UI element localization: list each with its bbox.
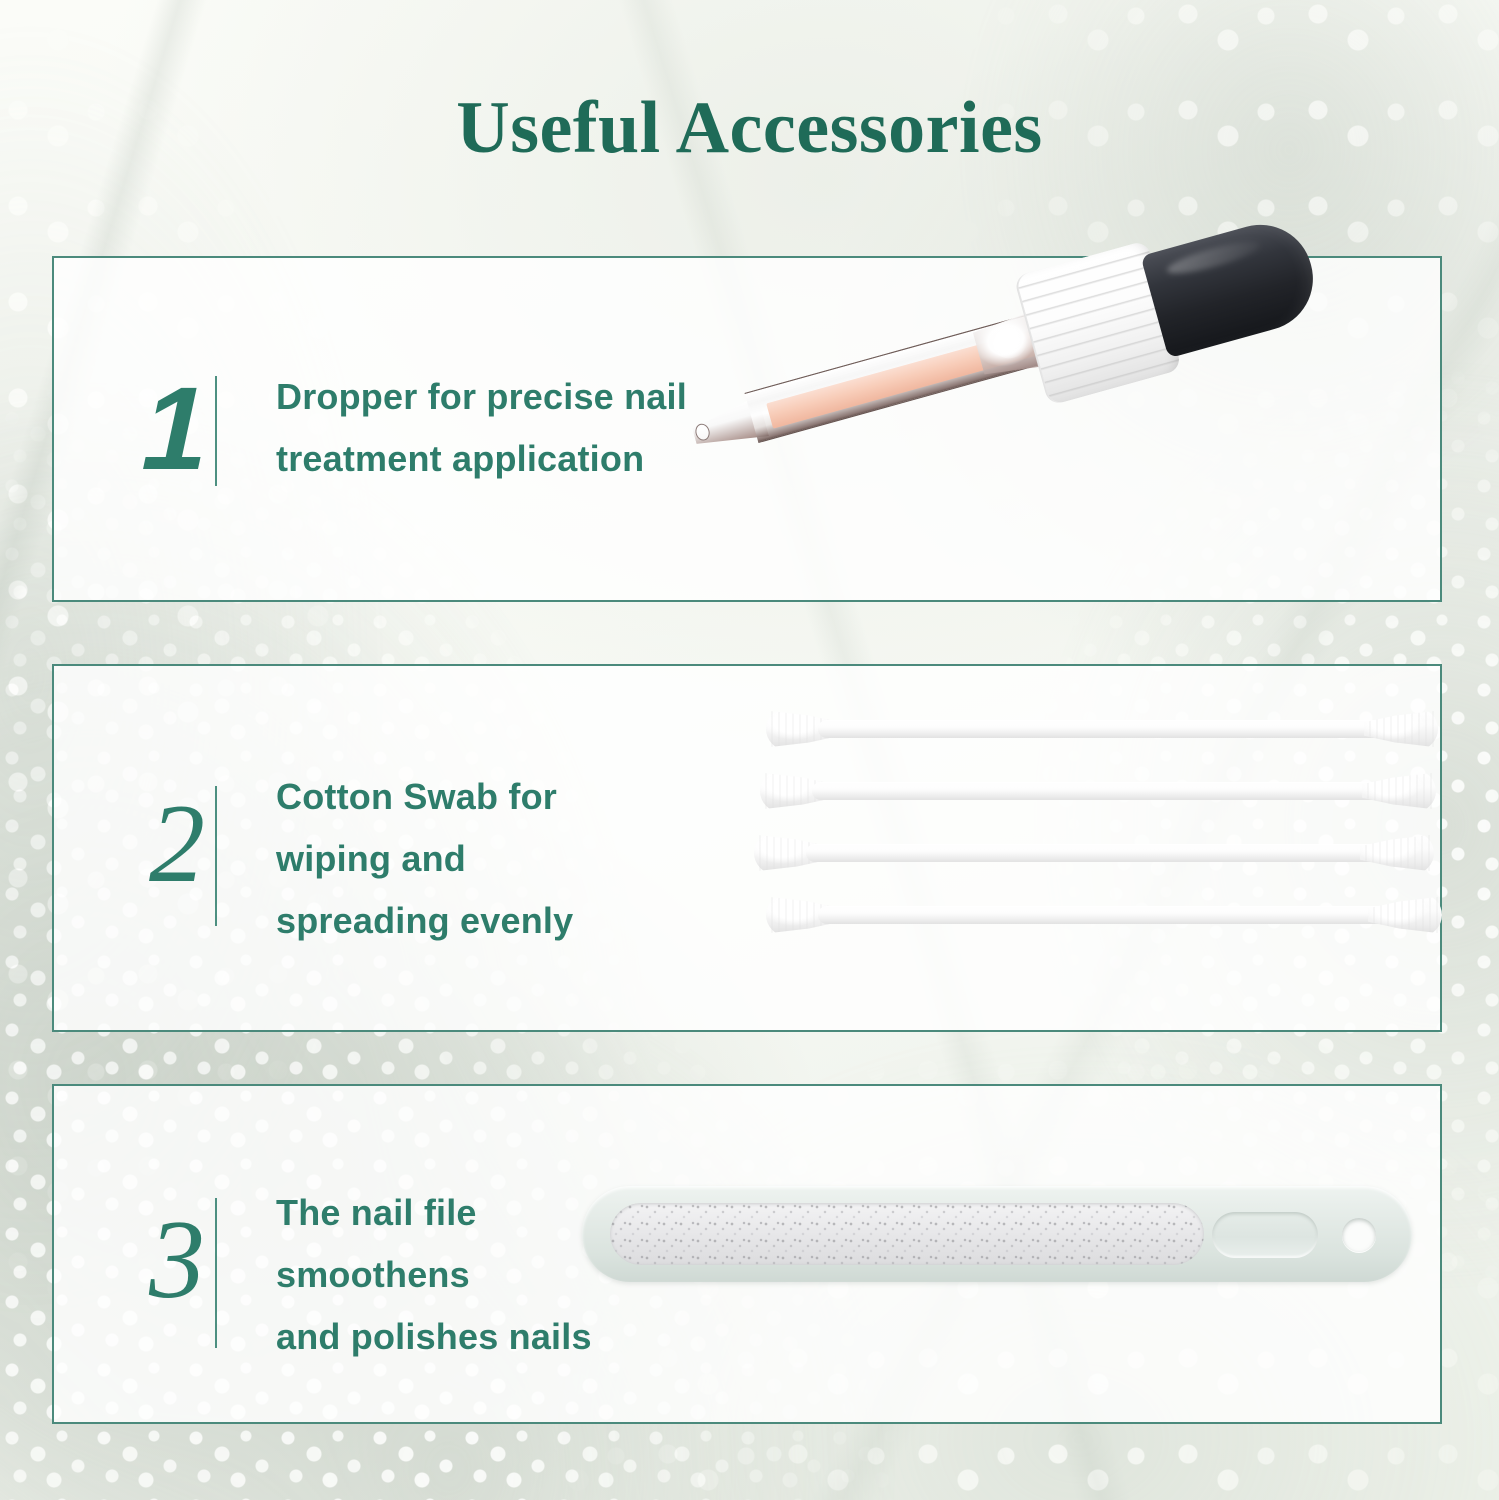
step-3-line-1: The nail file (276, 1182, 592, 1244)
cotton-swab (766, 894, 1442, 936)
step-description-1: Dropper for precise nail treatment appli… (276, 366, 687, 490)
cotton-swab (760, 770, 1436, 812)
nail-file-handle-recess (1212, 1212, 1318, 1258)
accessory-card-3: 3 The nail file smoothens and polishes n… (52, 1084, 1442, 1424)
step-1-line-2: treatment application (276, 428, 687, 490)
page-title: Useful Accessories (0, 86, 1499, 171)
accessory-card-2: 2 Cotton Swab for wiping and spreading e… (52, 664, 1442, 1032)
nail-file-abrasive-surface (610, 1203, 1204, 1265)
step-description-2: Cotton Swab for wiping and spreading eve… (276, 766, 573, 952)
cotton-swab (754, 832, 1434, 874)
step-divider-3 (215, 1198, 217, 1348)
step-3-line-3: and polishes nails (276, 1306, 592, 1368)
swab-tip-right (1364, 708, 1438, 750)
nail-file-image (582, 1186, 1412, 1282)
step-number-1: 1 (109, 370, 244, 488)
swab-shaft (818, 720, 1386, 738)
swab-tip-right (1360, 832, 1434, 874)
cotton-swabs-image (654, 694, 1414, 994)
step-divider-1 (215, 376, 217, 486)
dropper-image (694, 288, 1354, 578)
nail-file-hanging-hole (1342, 1218, 1376, 1252)
step-1-line-1: Dropper for precise nail (276, 366, 687, 428)
step-divider-2 (215, 786, 217, 926)
swab-tip-right (1368, 894, 1442, 936)
step-description-3: The nail file smoothens and polishes nai… (276, 1182, 592, 1368)
swab-shaft (818, 906, 1390, 924)
step-3-line-2: smoothens (276, 1244, 592, 1306)
swab-shaft (812, 782, 1384, 800)
accessory-card-1: 1 Dropper for precise nail treatment app… (52, 256, 1442, 602)
swab-tip-right (1362, 770, 1436, 812)
step-2-line-1: Cotton Swab for (276, 766, 573, 828)
cotton-swab (766, 708, 1438, 750)
step-2-line-3: spreading evenly (276, 890, 573, 952)
swab-shaft (806, 844, 1382, 862)
step-2-line-2: wiping and (276, 828, 573, 890)
